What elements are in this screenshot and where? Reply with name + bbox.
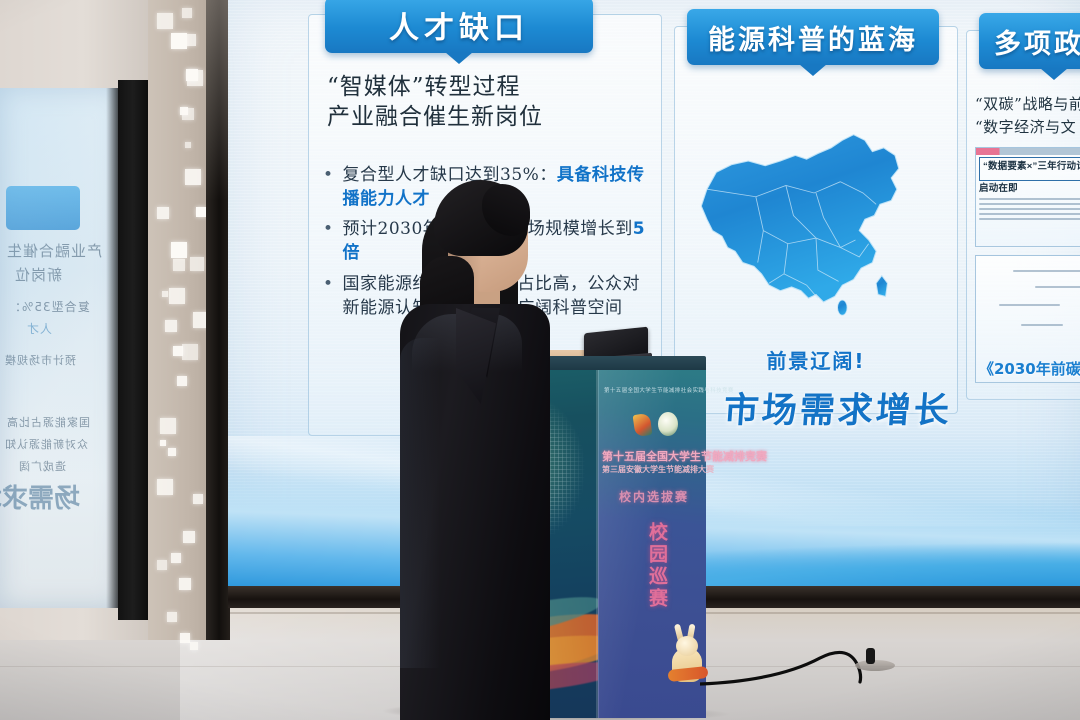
card2-ribbon-title: 能源科普的蓝海 xyxy=(687,9,939,65)
doc1-title: “数据要素×”三年行动计 xyxy=(980,158,1080,173)
card3-ribbon-title: 多项政策 xyxy=(979,13,1080,69)
panel-light-square xyxy=(165,320,177,332)
presenter-arm-shading xyxy=(400,338,440,668)
card3-lead-line1: “双碳”战略与前 xyxy=(975,93,1080,116)
floor-power-cable xyxy=(700,630,960,700)
door-glass-tint xyxy=(0,88,122,608)
card2-caption: 前景辽阔! xyxy=(675,345,957,374)
card3-lead-line2: “数字经济与文 xyxy=(975,116,1080,139)
panel-light-square xyxy=(186,69,198,81)
panel-light-square xyxy=(180,107,188,115)
screenshot-root: 产业融合催生 新岗位 复合型35%： 人才 预计市场规模 国家能源占比高 众对新… xyxy=(0,0,1080,720)
policy-doc-thumbnail-1[interactable]: “数据要素×”三年行动计 启动在即 xyxy=(975,147,1080,247)
panel-light-square xyxy=(190,642,198,650)
panel-light-square xyxy=(162,291,168,297)
doc2-caption: 《2030年前碳达 xyxy=(976,358,1080,379)
panel-light-square xyxy=(173,259,185,271)
card1-lead-line1: “智媒体”转型过程 xyxy=(327,73,647,103)
leaf-emblem-icon xyxy=(658,412,678,436)
panel-light-square xyxy=(190,257,204,271)
bullet-dot-icon: • xyxy=(323,217,334,265)
panel-light-square xyxy=(180,633,190,643)
doc1-subtitle: 启动在即 xyxy=(976,183,1080,195)
socket-plug xyxy=(866,648,875,664)
policy-doc-thumbnail-2[interactable]: 《2030年前碳达 xyxy=(975,255,1080,383)
panel-light-square xyxy=(185,142,191,148)
doc1-header-bar xyxy=(976,148,1080,155)
doc2-body-lines xyxy=(976,256,1080,332)
podium-corner-edge xyxy=(596,370,599,718)
podium-title-line1: 第十五届全国大学生节能减排竞赛 xyxy=(602,448,706,464)
panel-light-square xyxy=(169,288,185,304)
card1-lead-line2: 产业融合催生新岗位 xyxy=(327,103,647,133)
panel-light-square xyxy=(177,376,187,386)
panel-light-square xyxy=(196,207,206,217)
china-map-icon xyxy=(675,99,957,349)
perforated-light-panel xyxy=(148,0,214,640)
panel-light-square xyxy=(185,169,201,185)
podium-title-line3: 校内选拔赛 xyxy=(602,488,706,505)
mascot-head xyxy=(676,636,698,656)
panel-light-square xyxy=(157,207,169,219)
panel-light-square xyxy=(171,553,181,563)
china-map-svg xyxy=(675,99,957,349)
column-gloss xyxy=(206,0,230,200)
panel-light-square xyxy=(157,560,167,570)
card1-title-text: 人才缺口 xyxy=(389,3,529,47)
floor-socket[interactable] xyxy=(855,660,895,671)
panel-light-square xyxy=(182,344,198,360)
bullet-dot-icon: • xyxy=(323,163,334,211)
panel-light-square xyxy=(173,346,183,356)
panel-light-square xyxy=(167,612,177,622)
card2-title-text: 能源科普的蓝海 xyxy=(708,18,918,57)
slide-card-energy-blue-ocean: 能源科普的蓝海 xyxy=(674,26,958,414)
panel-light-square xyxy=(168,448,176,456)
slide-card-policies: 多项政策 “双碳”战略与前 “数字经济与文 “数据要素×”三年行动计 启动在即 xyxy=(966,30,1080,400)
panel-light-square xyxy=(160,440,166,446)
card1-ribbon-title: 人才缺口 xyxy=(325,0,593,53)
panel-light-square xyxy=(157,13,173,29)
panel-light-square xyxy=(171,33,187,49)
panel-light-square xyxy=(179,578,191,590)
door-gap-dark xyxy=(118,80,148,620)
doc1-headline-box: “数据要素×”三年行动计 xyxy=(979,157,1080,181)
panel-light-square xyxy=(157,479,173,495)
panel-light-square xyxy=(193,494,203,504)
panel-light-square xyxy=(182,8,192,18)
doc1-body-lines xyxy=(976,195,1080,226)
podium-vertical-text: 校园巡赛 xyxy=(638,522,668,610)
bullet-dot-icon: • xyxy=(323,272,334,320)
panel-light-square xyxy=(183,531,195,543)
card3-title-text: 多项政策 xyxy=(994,22,1080,61)
panel-light-square xyxy=(160,418,176,434)
podium-header-text: 第十五届全国大学生节能减排社会实践与科技竞赛 xyxy=(604,386,704,394)
presenter xyxy=(386,178,566,720)
panel-light-square xyxy=(171,242,187,258)
podium-title-line2: 第三届安徽大学生节能减排大赛 xyxy=(602,464,706,475)
